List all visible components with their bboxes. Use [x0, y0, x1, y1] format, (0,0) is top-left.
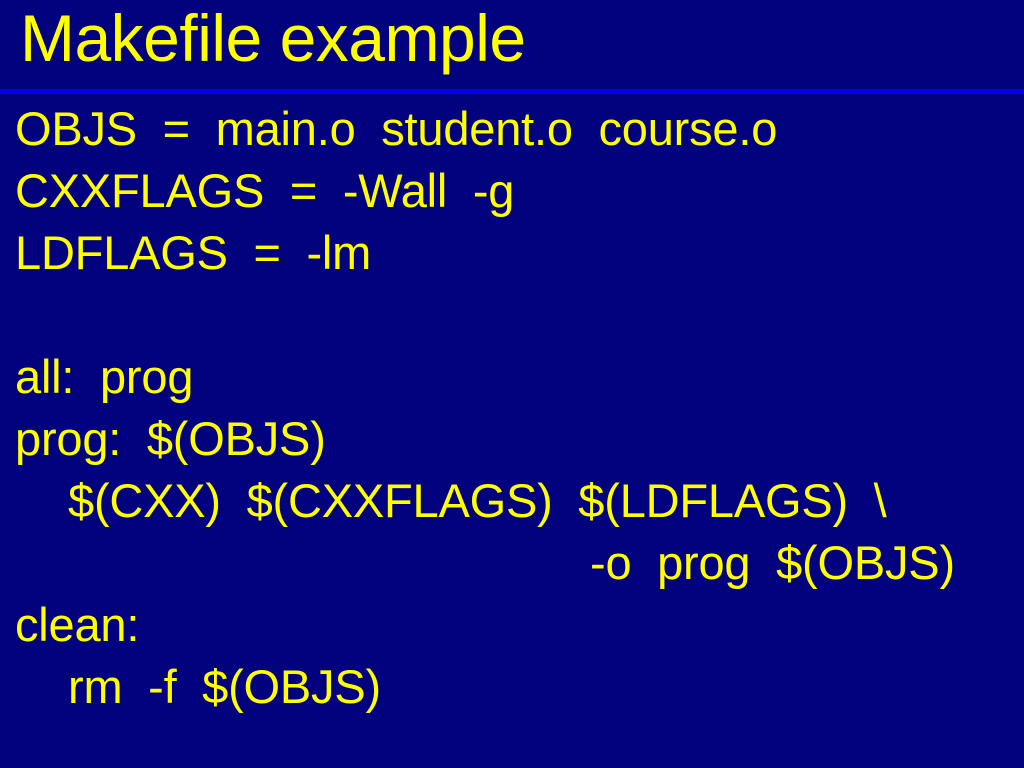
code-block: OBJS = main.o student.o course.oCXXFLAGS… [0, 98, 1024, 718]
code-line-blank [0, 284, 1024, 346]
code-line: $(CXX) $(CXXFLAGS) $(LDFLAGS) \ [0, 470, 1024, 532]
page-title: Makefile example [20, 0, 526, 78]
slide-title-area: Makefile example [0, 0, 1024, 89]
code-line: clean: [0, 594, 1024, 656]
code-line: CXXFLAGS = -Wall -g [0, 160, 1024, 222]
title-divider-rule [0, 89, 1024, 94]
code-line: prog: $(OBJS) [0, 408, 1024, 470]
code-line: -o prog $(OBJS) [0, 532, 1024, 594]
code-line: rm -f $(OBJS) [0, 656, 1024, 718]
slide: Makefile example OBJS = main.o student.o… [0, 0, 1024, 768]
code-line: all: prog [0, 346, 1024, 408]
code-line: LDFLAGS = -lm [0, 222, 1024, 284]
code-line: OBJS = main.o student.o course.o [0, 98, 1024, 160]
